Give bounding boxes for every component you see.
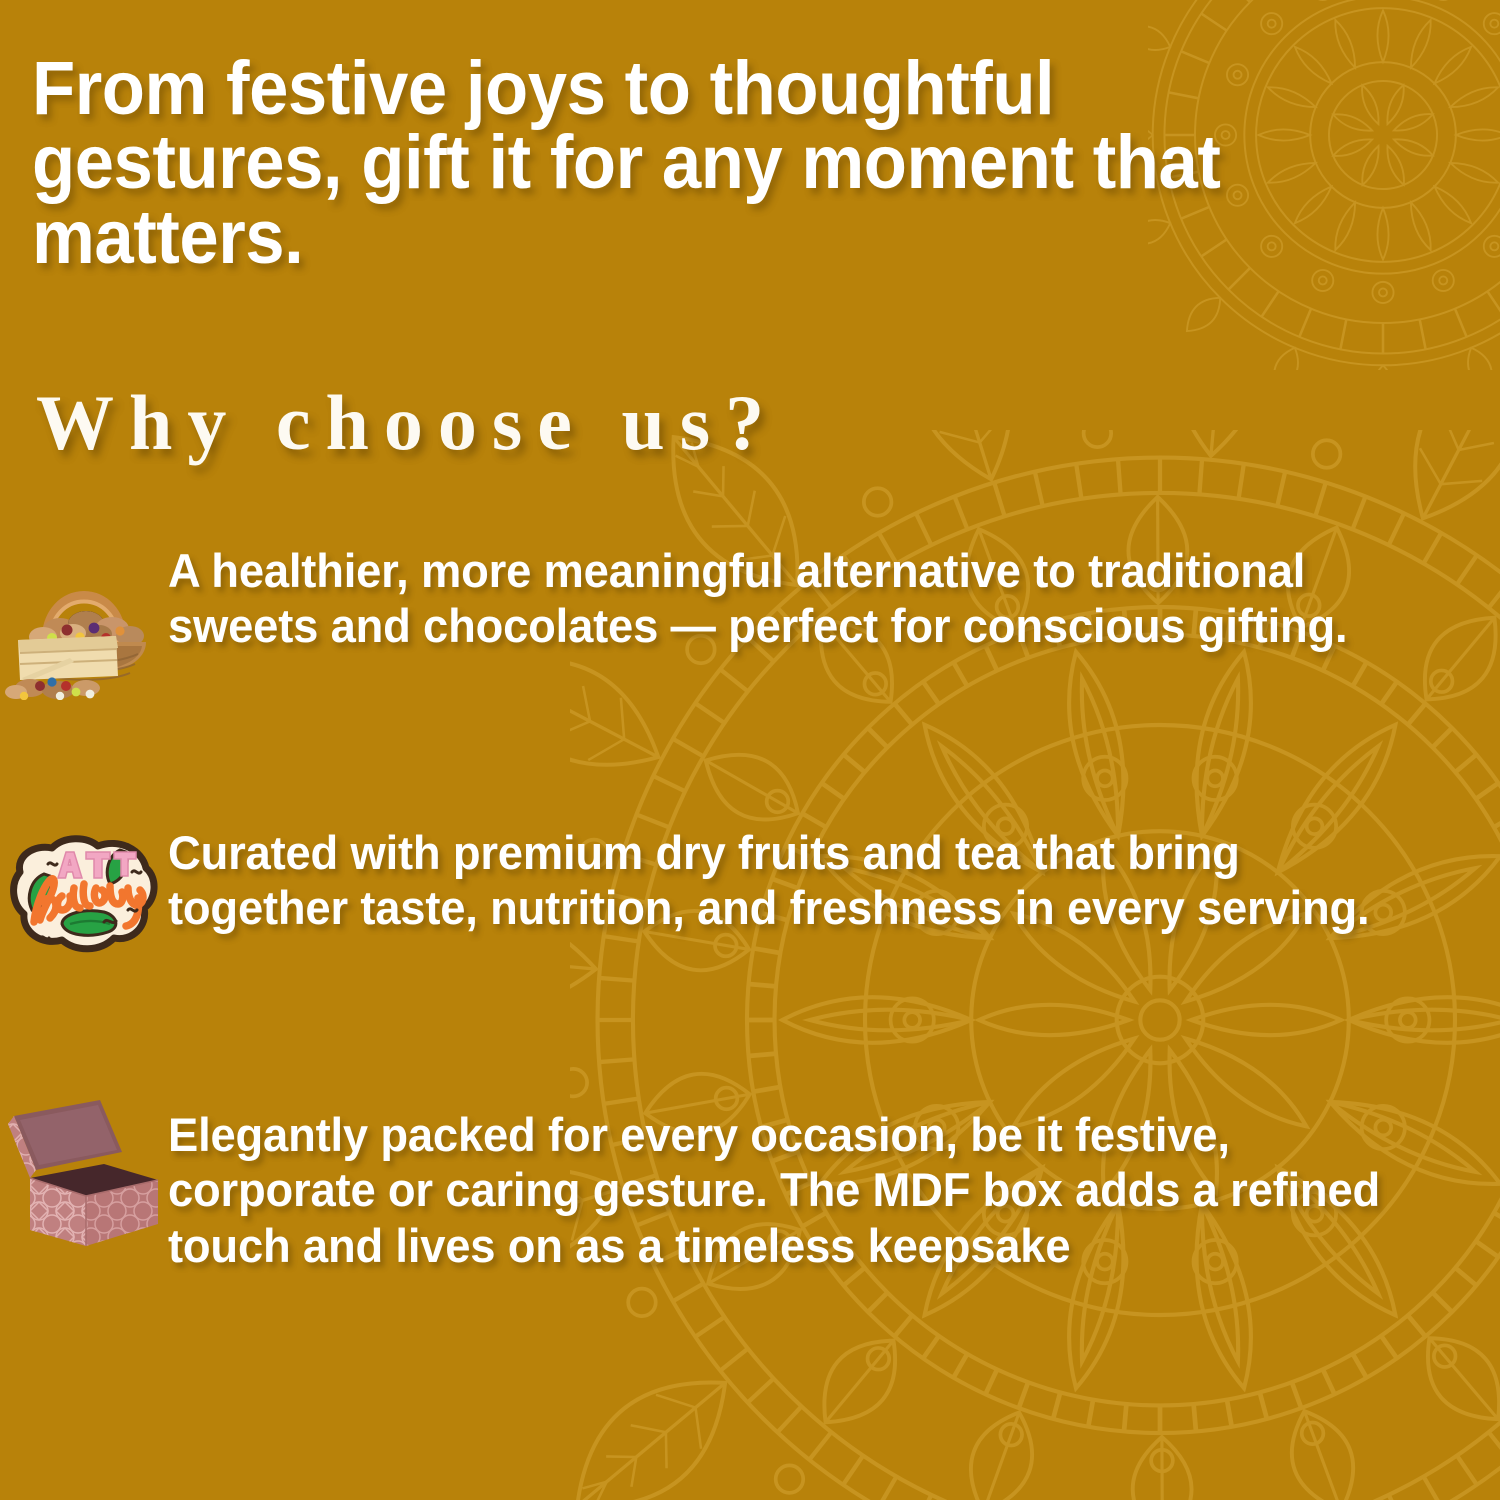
list-item: Curated with premium dry fruits and tea … [0,812,1500,982]
section-title: Why choose us? [36,384,779,462]
gift-basket-icon [0,530,168,700]
open-gift-box-icon [0,1094,168,1264]
headline: From festive joys to thoughtful gestures… [32,52,1315,275]
list-item-text: A healthier, more meaningful alternative… [168,530,1440,655]
list-item-text: Curated with premium dry fruits and tea … [168,812,1440,937]
list-item-text: Elegantly packed for every occasion, be … [168,1094,1440,1274]
list-item: Elegantly packed for every occasion, be … [0,1094,1500,1274]
eat-healthy-sticker-icon [0,812,168,982]
benefits-list: A healthier, more meaningful alternative… [0,530,1500,1386]
list-item: A healthier, more meaningful alternative… [0,530,1500,700]
promo-poster: From festive joys to thoughtful gestures… [0,0,1500,1500]
